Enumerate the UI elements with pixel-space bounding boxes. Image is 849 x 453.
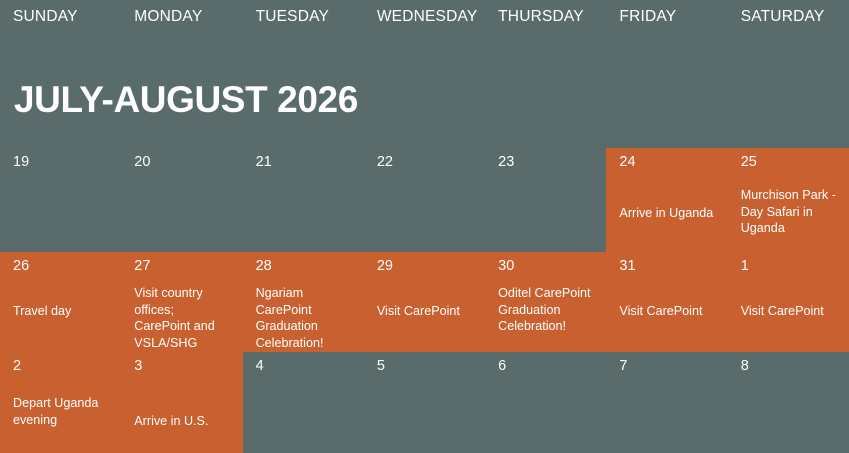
day-number: 7 — [619, 359, 717, 375]
day-cell[interactable]: 3 Arrive in U.S. — [121, 352, 242, 453]
weekday-header-thursday: THURSDAY — [485, 0, 606, 34]
day-number: 26 — [13, 259, 111, 275]
day-cell[interactable]: 25 Murchison Park - Day Safari in Uganda — [728, 148, 849, 252]
event-text[interactable]: Visit CarePoint — [741, 303, 839, 320]
day-cell[interactable]: 23 — [485, 148, 606, 252]
day-cell[interactable]: 6 — [485, 352, 606, 453]
calendar-view: SUNDAY MONDAY TUESDAY WEDNESDAY THURSDAY… — [0, 0, 849, 453]
day-number: 20 — [134, 155, 232, 171]
event-text[interactable]: Ngariam CarePoint Graduation Celebration… — [256, 285, 354, 351]
day-cell[interactable]: 30 Oditel CarePoint Graduation Celebrati… — [485, 252, 606, 352]
day-cell[interactable]: 2 Depart Uganda evening — [0, 352, 121, 453]
day-number: 30 — [498, 259, 596, 275]
day-cell[interactable]: 22 — [364, 148, 485, 252]
weekday-header-friday: FRIDAY — [606, 0, 727, 34]
day-cell[interactable]: 1 Visit CarePoint — [728, 252, 849, 352]
week-row: 2 Depart Uganda evening 3 Arrive in U.S.… — [0, 352, 849, 453]
weekday-label: TUESDAY — [256, 8, 329, 26]
event-text[interactable]: Oditel CarePoint Graduation Celebration! — [498, 285, 596, 335]
weekday-label: THURSDAY — [498, 8, 584, 26]
weekday-header-sunday: SUNDAY — [0, 0, 121, 34]
day-events: Depart Uganda evening — [13, 395, 111, 428]
event-text[interactable]: Arrive in Uganda — [619, 205, 717, 222]
day-cell[interactable]: 28 Ngariam CarePoint Graduation Celebrat… — [243, 252, 364, 352]
day-events: Travel day — [13, 285, 111, 320]
day-number: 31 — [619, 259, 717, 275]
day-events: Murchison Park - Day Safari in Uganda — [741, 187, 839, 237]
day-events: Visit CarePoint — [377, 285, 475, 320]
weekday-header-saturday: SATURDAY — [728, 0, 849, 34]
day-number: 25 — [741, 155, 839, 171]
weekday-label: SUNDAY — [13, 8, 78, 26]
month-title: JULY-AUGUST 2026 — [14, 81, 358, 118]
weekday-header-monday: MONDAY — [121, 0, 242, 34]
day-cell[interactable]: 7 — [606, 352, 727, 453]
day-cell[interactable]: 8 — [728, 352, 849, 453]
day-events: Ngariam CarePoint Graduation Celebration… — [256, 285, 354, 351]
day-number: 27 — [134, 259, 232, 275]
day-number: 21 — [256, 155, 354, 171]
event-text[interactable]: Visit country offices; CarePoint and VSL… — [134, 285, 232, 352]
weekday-label: WEDNESDAY — [377, 8, 478, 26]
event-text[interactable]: Visit CarePoint — [619, 303, 717, 320]
day-cell[interactable]: 21 — [243, 148, 364, 252]
day-cell[interactable]: 5 — [364, 352, 485, 453]
day-number: 8 — [741, 359, 839, 375]
day-events: Oditel CarePoint Graduation Celebration! — [498, 285, 596, 335]
weekday-label: FRIDAY — [619, 8, 676, 26]
day-number: 23 — [498, 155, 596, 171]
day-cell[interactable]: 27 Visit country offices; CarePoint and … — [121, 252, 242, 352]
event-text[interactable]: Travel day — [13, 303, 111, 320]
day-events: Visit country offices; CarePoint and VSL… — [134, 285, 232, 352]
day-number: 6 — [498, 359, 596, 375]
event-text[interactable]: Depart Uganda evening — [13, 395, 111, 428]
day-events: Visit CarePoint — [619, 285, 717, 320]
day-cell[interactable]: 4 — [243, 352, 364, 453]
event-text[interactable]: Arrive in U.S. — [134, 413, 232, 430]
day-number: 22 — [377, 155, 475, 171]
day-number: 19 — [13, 155, 111, 171]
day-number: 24 — [619, 155, 717, 171]
weekday-header-row: SUNDAY MONDAY TUESDAY WEDNESDAY THURSDAY… — [0, 0, 849, 34]
day-cell[interactable]: 24 Arrive in Uganda — [606, 148, 727, 252]
weekday-label: MONDAY — [134, 8, 202, 26]
week-row: 26 Travel day 27 Visit country offices; … — [0, 252, 849, 352]
weekday-header-wednesday: WEDNESDAY — [364, 0, 485, 34]
day-events: Arrive in Uganda — [619, 187, 717, 222]
day-number: 3 — [134, 359, 232, 375]
day-events: Arrive in U.S. — [134, 395, 232, 430]
day-number: 2 — [13, 359, 111, 375]
weekday-header-tuesday: TUESDAY — [243, 0, 364, 34]
day-cell[interactable]: 29 Visit CarePoint — [364, 252, 485, 352]
day-cell[interactable]: 19 — [0, 148, 121, 252]
day-number: 29 — [377, 259, 475, 275]
day-events: Visit CarePoint — [741, 285, 839, 320]
weeks-grid: 19 20 21 22 — [0, 148, 849, 453]
day-cell[interactable]: 31 Visit CarePoint — [606, 252, 727, 352]
weekday-label: SATURDAY — [741, 8, 825, 26]
week-row: 19 20 21 22 — [0, 148, 849, 252]
day-cell[interactable]: 20 — [121, 148, 242, 252]
day-cell[interactable]: 26 Travel day — [0, 252, 121, 352]
event-text[interactable]: Murchison Park - Day Safari in Uganda — [741, 187, 839, 237]
day-number: 1 — [741, 259, 839, 275]
day-number: 5 — [377, 359, 475, 375]
day-number: 4 — [256, 359, 354, 375]
event-text[interactable]: Visit CarePoint — [377, 303, 475, 320]
day-number: 28 — [256, 259, 354, 275]
